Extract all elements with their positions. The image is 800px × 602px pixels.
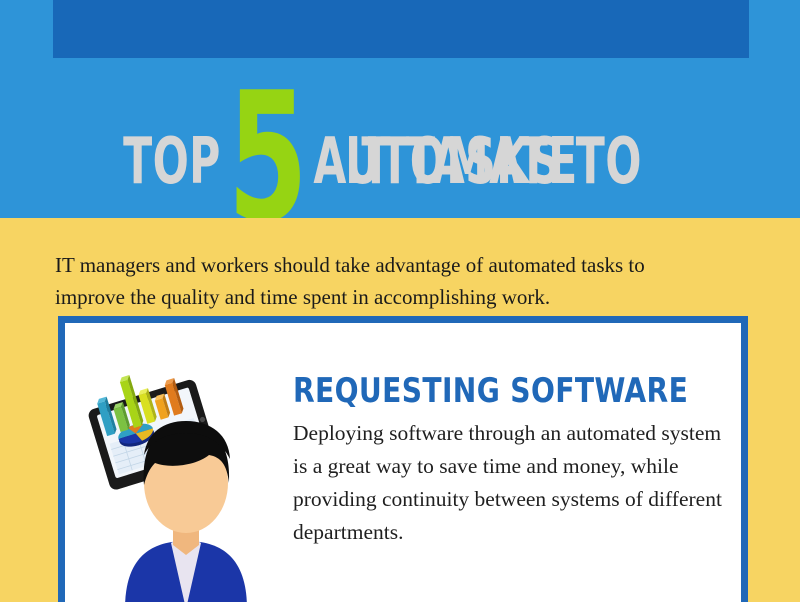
header-banner: TOP 5 IT TASKS TO AUTOMATE — [0, 0, 800, 218]
infographic-page: TOP 5 IT TASKS TO AUTOMATE IT managers a… — [0, 0, 800, 602]
header-accent-bar — [53, 0, 749, 58]
tip-card-requesting-software: REQUESTING SOFTWARE Deploying software t… — [58, 316, 748, 602]
intro-paragraph: IT managers and workers should take adva… — [55, 249, 715, 313]
tip-card-body: Deploying software through an automated … — [293, 417, 733, 549]
tip-card-inner: REQUESTING SOFTWARE Deploying software t… — [65, 323, 741, 602]
businessman-with-tablet-charts-icon — [81, 359, 291, 602]
tip-card-heading: REQUESTING SOFTWARE — [293, 373, 698, 409]
title-word-automate: AUTOMATE — [314, 130, 578, 194]
header-title-block: TOP 5 IT TASKS TO AUTOMATE — [0, 58, 800, 218]
tip-card-text: REQUESTING SOFTWARE Deploying software t… — [293, 373, 733, 549]
title-line-2: AUTOMATE — [0, 130, 800, 206]
